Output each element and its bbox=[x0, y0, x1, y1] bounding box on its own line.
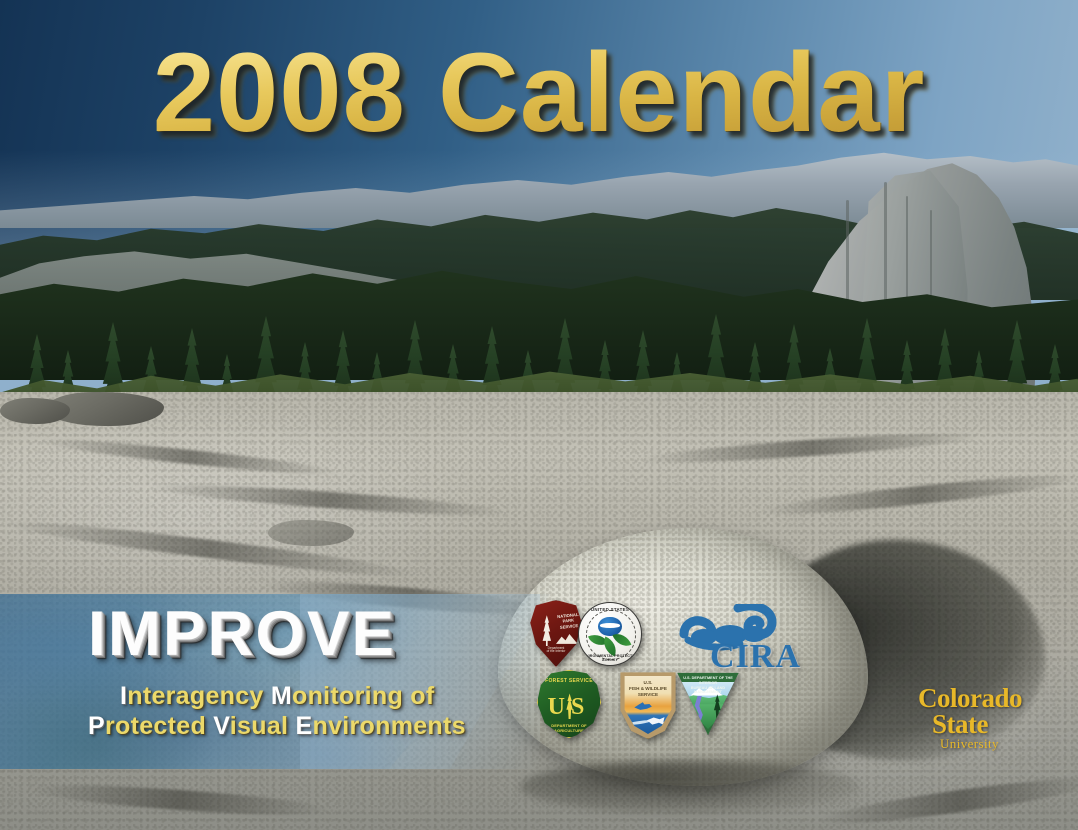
cira-wordmark: CIRA bbox=[710, 638, 801, 676]
improve-tagline-line2: Protected Visual Environments bbox=[88, 712, 466, 741]
usfs-bottom-label: DEPARTMENT OF AGRICULTURE bbox=[542, 723, 597, 733]
blm-meadow-icon bbox=[683, 704, 733, 729]
fws-label: U.S. FISH & WILDLIFE SERVICE bbox=[627, 680, 670, 698]
rock-outcrop bbox=[268, 520, 354, 546]
epa-wave-icon bbox=[600, 623, 620, 627]
usfs-top-label: FOREST SERVICE bbox=[543, 678, 595, 684]
page-title: 2008 Calendar bbox=[0, 34, 1078, 152]
nps-sublabel: Department of the Interior bbox=[543, 647, 569, 655]
tagline-cap-p: P bbox=[88, 712, 105, 740]
improve-tagline-line1: Interagency Monitoring of bbox=[120, 682, 434, 711]
epa-bottom-label: ENVIRONMENTAL PROTECTION AGENCY bbox=[579, 654, 641, 662]
cira-logo: CIRA bbox=[668, 604, 808, 676]
epa-logo: UNITED STATES ENVIRONMENTAL PROTECTION A… bbox=[578, 602, 640, 664]
tagline-text: onitoring of bbox=[292, 682, 434, 710]
fws-fish-icon bbox=[647, 717, 665, 726]
epa-top-label: UNITED STATES bbox=[579, 607, 641, 612]
boulder-ground-shadow bbox=[520, 760, 860, 814]
colorado-state-university-wordmark: Colorado State University bbox=[918, 686, 1038, 750]
fish-and-wildlife-service-logo: U.S. FISH & WILDLIFE SERVICE bbox=[618, 671, 676, 737]
bureau-of-land-management-logo: U.S. DEPARTMENT OF THE INTERIOR BUREAU O… bbox=[676, 671, 738, 733]
tagline-text: isual bbox=[230, 712, 296, 740]
nps-mountain-icon bbox=[556, 632, 578, 644]
forest-service-logo: FOREST SERVICE US DEPARTMENT OF AGRICULT… bbox=[537, 670, 599, 736]
tagline-text: nteragency bbox=[127, 682, 271, 710]
rock-outcrop bbox=[0, 398, 70, 424]
blm-label: U.S. DEPARTMENT OF THE INTERIOR BUREAU O… bbox=[681, 676, 736, 696]
tagline-text: rotected bbox=[105, 712, 213, 740]
calendar-cover-poster: 2008 Calendar IMPROVE Interagency Monito… bbox=[0, 0, 1078, 830]
tagline-cap-e: E bbox=[296, 712, 313, 740]
tagline-cap-v: V bbox=[213, 712, 230, 740]
csu-line-state: State bbox=[932, 712, 1038, 738]
national-park-service-logo: NATIONAL PARK SERVICE Department of the … bbox=[528, 600, 582, 665]
tagline-text: nvironments bbox=[313, 712, 466, 740]
tagline-cap-m: M bbox=[271, 682, 292, 710]
fws-duck-icon bbox=[634, 702, 652, 714]
nps-sequoia-icon bbox=[540, 615, 554, 646]
improve-acronym: IMPROVE bbox=[88, 598, 396, 670]
csu-line-university: University bbox=[940, 738, 1038, 750]
